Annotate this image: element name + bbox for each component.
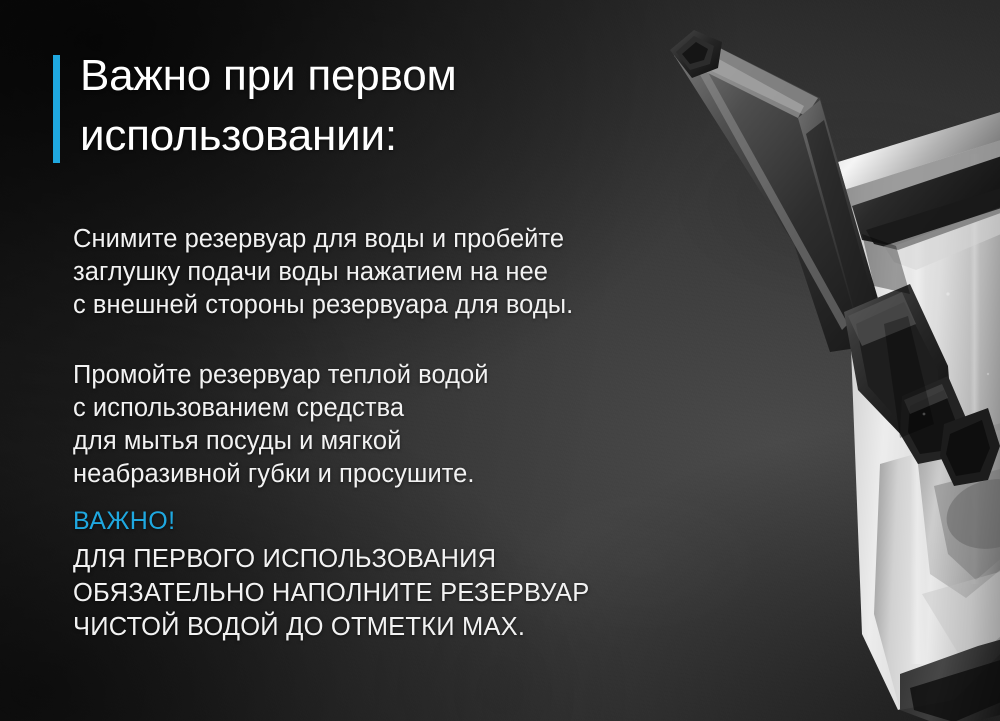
important-notice: ВАЖНО! ДЛЯ ПЕРВОГО ИСПОЛЬЗОВАНИЯ ОБЯЗАТЕ…: [73, 506, 589, 644]
accent-bar: [53, 55, 60, 163]
instruction-banner: Важно при первом использовании: Снимите …: [0, 0, 1000, 721]
text-column: Важно при первом использовании: Снимите …: [53, 0, 743, 721]
instruction-paragraph-2: Промойте резервуар теплой водой с исполь…: [73, 359, 489, 491]
page-title: Важно при первом использовании:: [60, 46, 457, 171]
important-notice-label: ВАЖНО!: [73, 506, 589, 537]
instruction-paragraph-1: Снимите резервуар для воды и пробейте за…: [73, 223, 573, 322]
important-notice-text: ДЛЯ ПЕРВОГО ИСПОЛЬЗОВАНИЯ ОБЯЗАТЕЛЬНО НА…: [73, 542, 589, 644]
heading-group: Важно при первом использовании:: [53, 46, 457, 171]
